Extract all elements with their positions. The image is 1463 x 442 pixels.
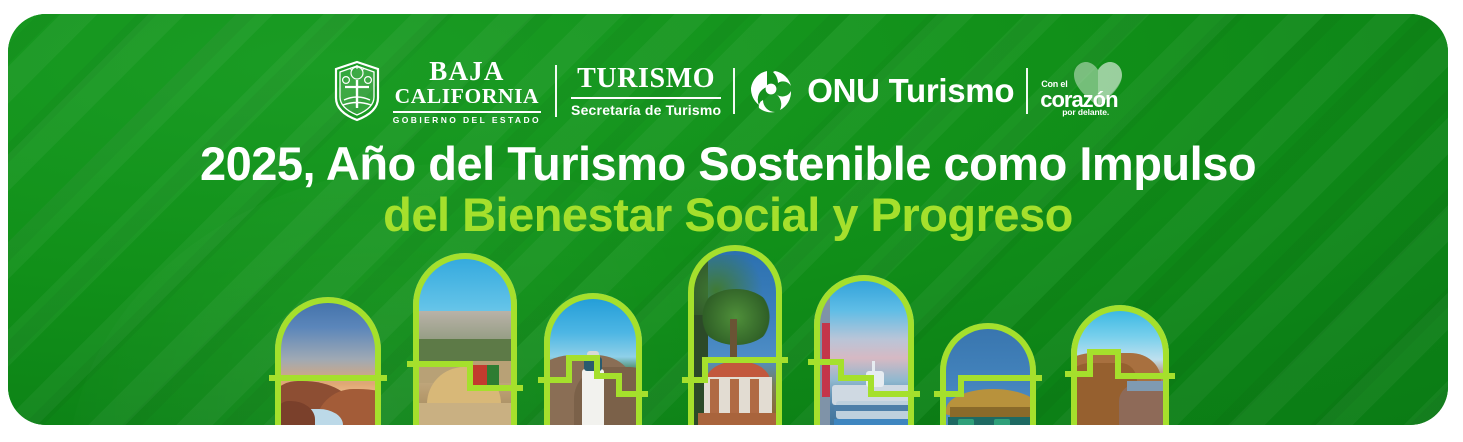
turismo-rule (571, 97, 721, 99)
onu-turismo-globe-icon (747, 67, 795, 115)
arch-ledge (702, 357, 788, 363)
arch-photo-canon-montana (1071, 305, 1169, 425)
arch-photo-pabellon-chino (940, 323, 1036, 425)
arch-photo-image (275, 297, 381, 425)
arch-photo-image (940, 323, 1036, 425)
arch-ledge (958, 375, 1042, 381)
arch-photo-image (688, 245, 782, 425)
logo-con-el-corazon: Con el corazón por delante. (1040, 62, 1126, 120)
turismo-title: TURISMO (577, 65, 715, 93)
logo-divider-3 (1026, 68, 1028, 114)
logo-onu-turismo: ONU Turismo (747, 67, 1014, 115)
bc-line-baja: BAJA (429, 58, 504, 85)
onu-turismo-wordmark: ONU Turismo (807, 72, 1014, 110)
arch-photo-image (814, 275, 914, 425)
arch-ledge (467, 385, 523, 391)
arch-photo-faro-lighthouse (544, 293, 642, 425)
arch-photo-tijuana-vista (413, 253, 517, 425)
baja-california-state-seal-icon (330, 60, 384, 122)
bc-line-california: CALIFORNIA (395, 86, 540, 108)
logo-divider-1 (555, 65, 557, 117)
campaign-banner: BAJA CALIFORNIA GOBIERNO DEL ESTADO TURI… (8, 14, 1448, 425)
logo-divider-2 (733, 68, 735, 114)
arch-photo-valle-de-los-gigantes (275, 297, 381, 425)
arch-ledge (1115, 373, 1175, 379)
logo-bar: BAJA CALIFORNIA GOBIERNO DEL ESTADO TURI… (8, 60, 1448, 122)
headline-block: 2025, Año del Turismo Sostenible como Im… (8, 140, 1448, 240)
arch-ledge (407, 361, 473, 367)
logo-secretaria-turismo: TURISMO Secretaría de Turismo (571, 65, 721, 117)
arch-ledge (868, 391, 920, 397)
logo-baja-california: BAJA CALIFORNIA GOBIERNO DEL ESTADO (330, 58, 541, 125)
arch-ledge (616, 391, 648, 397)
arch-photo-crucero-ensenada (814, 275, 914, 425)
headline-line-2: del Bienestar Social y Progreso (8, 191, 1448, 240)
headline-line-1: 2025, Año del Turismo Sostenible como Im… (8, 140, 1448, 189)
arch-ledge (269, 375, 387, 381)
arch-photo-image (413, 253, 517, 425)
corazon-line-bottom: por delante. (1062, 107, 1109, 117)
turismo-subtitle: Secretaría de Turismo (571, 103, 721, 117)
bc-line-gobierno: GOBIERNO DEL ESTADO (393, 116, 541, 125)
arch-photo-kiosco-palmeras (688, 245, 782, 425)
bc-rule (393, 111, 541, 113)
